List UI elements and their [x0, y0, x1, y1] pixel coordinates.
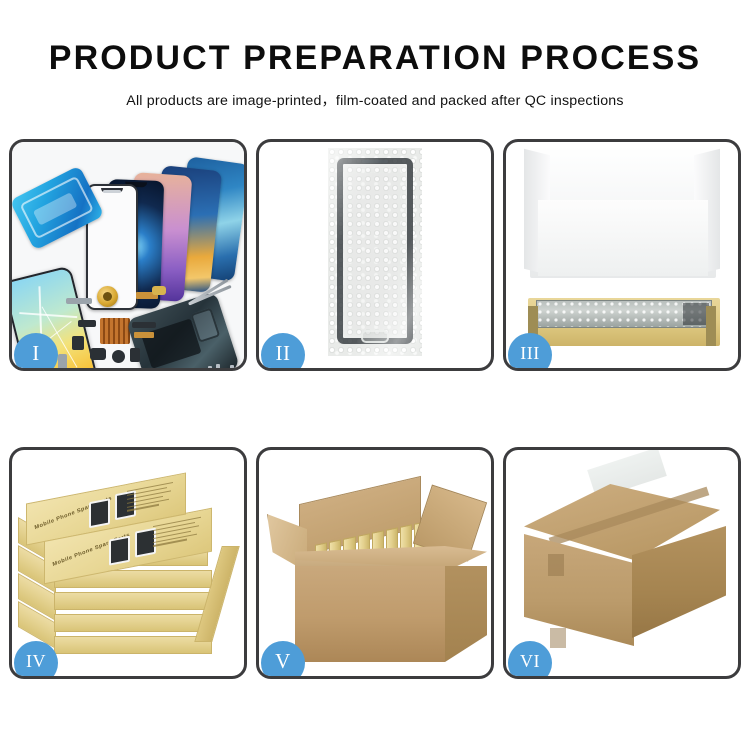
spare-part-strip — [66, 298, 92, 304]
process-step-3: III — [503, 139, 741, 371]
step-6-illustration: VI — [506, 450, 738, 676]
step-1-illustration: I — [12, 142, 244, 368]
spare-part-module — [130, 348, 140, 362]
notch-icon — [101, 188, 123, 193]
page-title: PRODUCT PREPARATION PROCESS — [0, 41, 750, 75]
carton-tab-lower — [550, 628, 566, 648]
box-slab — [54, 592, 212, 610]
spare-part-antenna — [132, 322, 156, 328]
step-5-illustration: V — [259, 450, 491, 676]
spec-lines — [153, 516, 205, 556]
step-4-illustration: Mobile Phone Spare Parts Mobile Phone Sp… — [12, 450, 244, 676]
step-badge-6: VI — [508, 641, 552, 676]
carton-tab-upper — [548, 554, 564, 576]
product-preparation-infographic: PRODUCT PREPARATION PROCESS All products… — [0, 0, 750, 750]
wrapped-screen-glass — [337, 158, 413, 344]
process-step-4: Mobile Phone Spare Parts Mobile Phone Sp… — [9, 447, 247, 679]
spare-part-ribbon — [134, 332, 154, 338]
process-step-6: VI — [503, 447, 741, 679]
box-slab — [54, 636, 212, 654]
box-slab — [54, 614, 212, 632]
process-step-5: V — [256, 447, 494, 679]
foam-padding — [538, 200, 708, 276]
carton-front-face — [295, 566, 445, 662]
spare-part-camera — [112, 350, 125, 363]
header: PRODUCT PREPARATION PROCESS All products… — [0, 0, 750, 110]
step-badge-2: II — [261, 333, 305, 368]
wrapped-screen-in-box — [536, 300, 712, 328]
screen-print-icon — [89, 498, 110, 528]
process-step-2: II — [256, 139, 494, 371]
box-stack-group: Mobile Phone Spare Parts Mobile Phone Sp… — [12, 450, 244, 676]
chip-grid-icon — [100, 318, 130, 344]
screws-group — [208, 364, 234, 368]
spare-part-button — [72, 336, 84, 350]
spare-part-speaker — [90, 348, 106, 360]
box-tab-right — [706, 306, 716, 346]
process-step-grid: I II III — [9, 139, 741, 679]
carton-side-face — [445, 566, 487, 662]
step-2-illustration: II — [259, 142, 491, 368]
page-subtitle: All products are image-printed，film-coat… — [0, 90, 750, 110]
step-3-illustration: III — [506, 142, 738, 368]
spare-part-connector — [152, 286, 166, 295]
spare-part-bracket — [78, 320, 96, 327]
screen-print-icon — [109, 536, 130, 566]
spare-part-sim-tray — [58, 354, 67, 368]
vibration-coil-icon — [97, 286, 118, 307]
spec-lines — [127, 481, 179, 521]
process-step-1: I — [9, 139, 247, 371]
